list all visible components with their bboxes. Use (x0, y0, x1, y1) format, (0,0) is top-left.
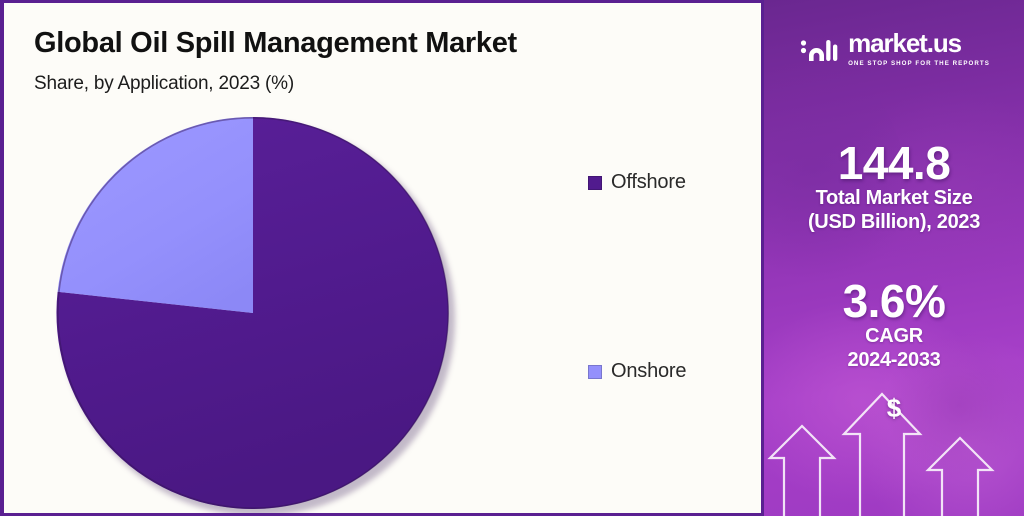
brand-logo[interactable]: market.us ONE STOP SHOP FOR THE REPORTS (764, 30, 1024, 67)
pie-svg (56, 116, 450, 510)
pie-slice-onshore (58, 117, 253, 313)
infographic-root: Global Oil Spill Management Market Share… (0, 0, 1024, 516)
brand-panel: market.us ONE STOP SHOP FOR THE REPORTS … (764, 0, 1024, 516)
stat-value-market-size: 144.8 (764, 140, 1024, 187)
stat-caption-market-size-line1: Total Market Size (764, 187, 1024, 211)
page-title: Global Oil Spill Management Market (34, 27, 517, 60)
logo-tagline: ONE STOP SHOP FOR THE REPORTS (848, 60, 990, 67)
chart-panel: Global Oil Spill Management Market Share… (0, 0, 764, 516)
chart-subtitle: Share, by Application, 2023 (%) (34, 73, 294, 95)
legend-label-offshore: Offshore (611, 171, 686, 194)
legend-swatch-offshore-icon (588, 176, 602, 190)
legend-item-offshore[interactable]: Offshore (588, 171, 686, 194)
stat-caption-cagr-line2: 2024-2033 (764, 349, 1024, 373)
market-us-logo-mark-icon (798, 34, 840, 64)
legend-item-onshore[interactable]: Onshore (588, 360, 686, 383)
legend-label-onshore: Onshore (611, 360, 686, 383)
stat-cagr: 3.6% CAGR 2024-2033 (764, 278, 1024, 372)
growth-arrows-icon (764, 386, 1024, 516)
chart-legend: Offshore Onshore (564, 3, 764, 516)
legend-swatch-onshore-icon (588, 365, 602, 379)
stat-caption-cagr-line1: CAGR (764, 325, 1024, 349)
pie-chart: 70.5% (56, 116, 450, 510)
stat-caption-market-size-line2: (USD Billion), 2023 (764, 211, 1024, 235)
stat-total-market-size: 144.8 Total Market Size (USD Billion), 2… (764, 140, 1024, 234)
logo-text: market.us ONE STOP SHOP FOR THE REPORTS (848, 30, 990, 67)
stat-value-cagr: 3.6% (764, 278, 1024, 325)
logo-wordmark: market.us (848, 30, 961, 56)
pie-body (56, 116, 450, 510)
